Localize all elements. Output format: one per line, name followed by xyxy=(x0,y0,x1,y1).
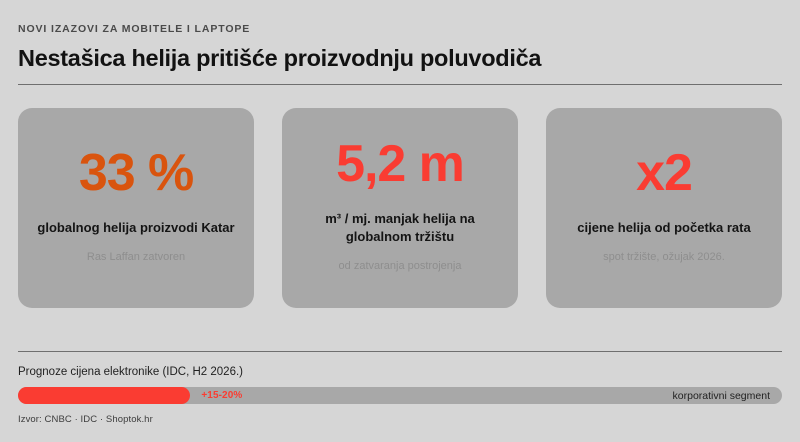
stat-card-list: 33 % globalnog helija proizvodi Katar Ra… xyxy=(18,108,782,308)
page-title: Nestašica helija pritišće proizvodnju po… xyxy=(18,45,782,71)
header-divider xyxy=(18,84,782,85)
forecast-segment-label: korporativni segment xyxy=(673,390,770,402)
stat-label-deficit: m³ / mj. manjak helija na globalnom trži… xyxy=(300,210,500,245)
stat-label-price-multiplier: cijene helija od početka rata xyxy=(577,219,750,237)
eyebrow-kicker: NOVI IZAZOVI ZA MOBITELE I LAPTOPE xyxy=(18,24,782,35)
stat-value-deficit: 5,2 m xyxy=(336,138,464,190)
stat-value-price-multiplier: x2 xyxy=(636,147,692,199)
source-credit: Izvor: CNBC · IDC · Shoptok.hr xyxy=(18,414,782,425)
forecast-title: Prognoze cijena elektronike (IDC, H2 202… xyxy=(18,366,782,378)
forecast-bar-fill xyxy=(18,387,190,404)
forecast-bar-value: +15-20% xyxy=(201,390,242,401)
stat-card-price-multiplier: x2 cijene helija od početka rata spot tr… xyxy=(546,108,782,308)
header: NOVI IZAZOVI ZA MOBITELE I LAPTOPE Nesta… xyxy=(18,0,782,85)
stat-value-katar: 33 % xyxy=(79,147,193,199)
footer-divider xyxy=(18,351,782,352)
stat-card-katar: 33 % globalnog helija proizvodi Katar Ra… xyxy=(18,108,254,308)
forecast-bar-track: +15-20% korporativni segment xyxy=(18,387,782,404)
stat-note-katar: Ras Laffan zatvoren xyxy=(87,250,185,264)
stat-label-katar: globalnog helija proizvodi Katar xyxy=(37,219,234,237)
infographic-page: NOVI IZAZOVI ZA MOBITELE I LAPTOPE Nesta… xyxy=(0,0,800,442)
stat-card-deficit: 5,2 m m³ / mj. manjak helija na globalno… xyxy=(282,108,518,308)
stat-note-deficit: od zatvaranja postrojenja xyxy=(339,259,462,273)
footer: Prognoze cijena elektronike (IDC, H2 202… xyxy=(18,351,782,425)
stat-note-price-multiplier: spot tržište, ožujak 2026. xyxy=(603,250,725,264)
